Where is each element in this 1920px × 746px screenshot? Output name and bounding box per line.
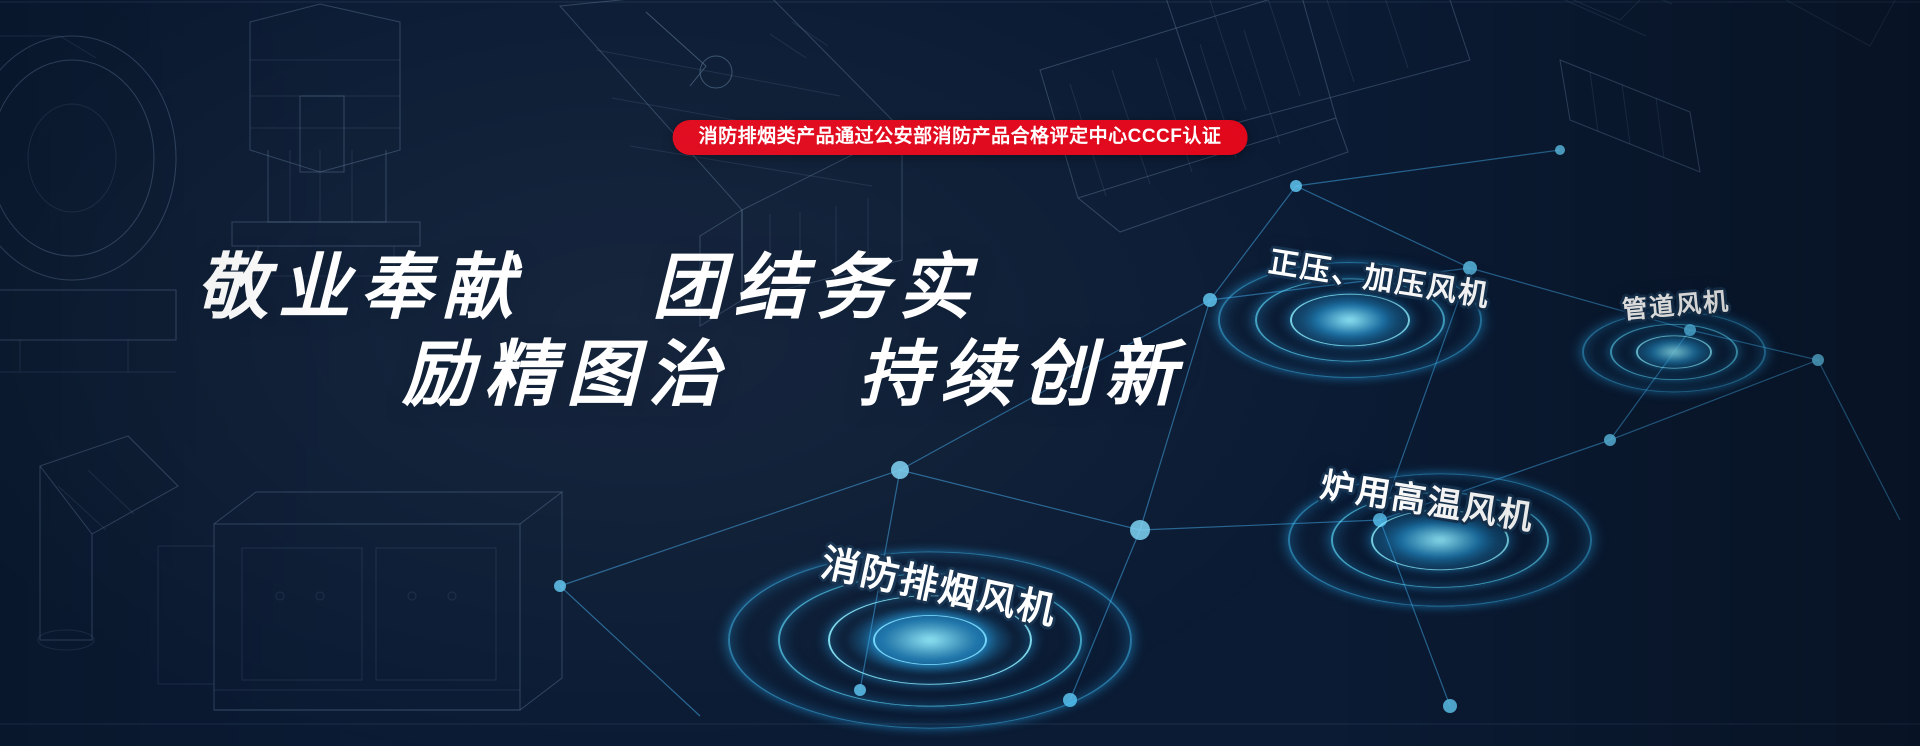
certification-badge[interactable]: 消防排烟类产品通过公安部消防产品合格评定中心CCCF认证 — [673, 120, 1248, 155]
slogan-phrase-2: 团结务实 — [652, 244, 980, 329]
company-slogan: 敬业奉献 团结务实 励精图治 持续创新 — [196, 250, 1186, 411]
slogan-phrase-1: 敬业奉献 — [196, 244, 524, 329]
slogan-phrase-3: 励精图治 — [402, 331, 730, 416]
slogan-line-2: 励精图治 持续创新 — [402, 337, 1186, 410]
slogan-line-1: 敬业奉献 团结务实 — [196, 250, 1186, 323]
slogan-phrase-4: 持续创新 — [858, 331, 1186, 416]
hero-banner: 消防排烟类产品通过公安部消防产品合格评定中心CCCF认证 敬业奉献 团结务实 励… — [0, 0, 1920, 746]
